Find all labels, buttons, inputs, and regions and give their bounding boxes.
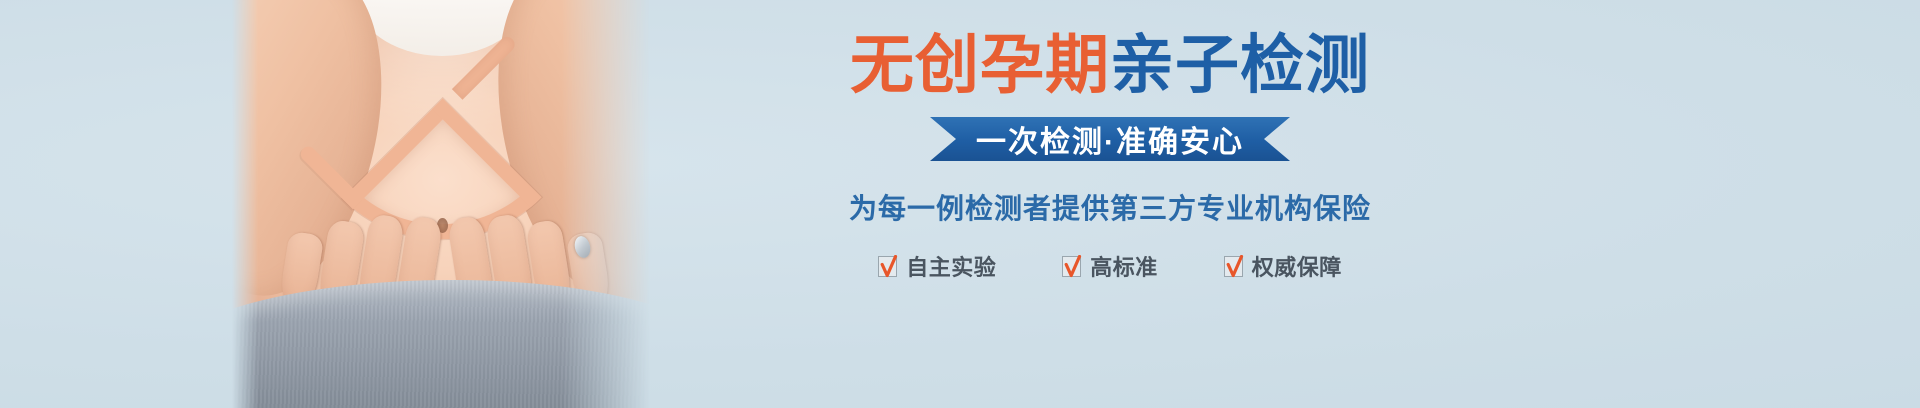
checkmark-icon (878, 256, 897, 277)
headline-part-blue: 亲子检测 (1110, 29, 1370, 101)
tagline-ribbon: 一次检测·准确安心 (930, 117, 1290, 161)
feature-label: 高标准 (1090, 250, 1158, 282)
feature-item: 自主实验 (878, 250, 996, 282)
headline: 无创孕期亲子检测 (760, 33, 1460, 97)
pregnant-belly-hands-heart-photo (232, 0, 652, 408)
headline-part-orange: 无创孕期 (850, 29, 1110, 101)
ribbon-shape: 一次检测·准确安心 (930, 117, 1290, 161)
feature-label: 自主实验 (906, 250, 996, 282)
feature-item: 权威保障 (1224, 250, 1342, 282)
promo-banner: 无创孕期亲子检测 一次检测·准确安心 为每一例检测者提供第三方专业机构保险 自主… (0, 0, 1920, 408)
feature-list: 自主实验 高标准 权威保障 (760, 250, 1460, 282)
grey-waistband (232, 280, 652, 408)
subtitle: 为每一例检测者提供第三方专业机构保险 (760, 187, 1460, 227)
checkmark-icon (1062, 256, 1081, 277)
photo-skin-layer (232, 0, 652, 408)
ribbon-label: 一次检测·准确安心 (976, 117, 1244, 161)
checkmark-icon (1224, 256, 1243, 277)
banner-copy-column: 无创孕期亲子检测 一次检测·准确安心 为每一例检测者提供第三方专业机构保险 自主… (760, 0, 1460, 408)
feature-item: 高标准 (1062, 250, 1158, 282)
feature-label: 权威保障 (1252, 250, 1342, 282)
